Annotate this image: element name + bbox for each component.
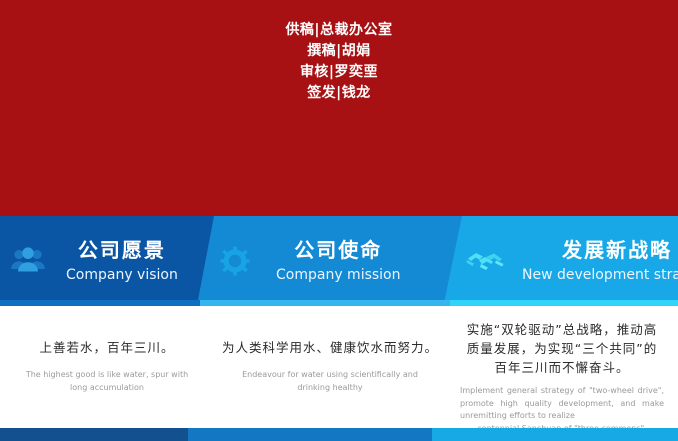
banner-panel-company-vision[interactable]: 公司愿景 Company vision xyxy=(0,216,214,306)
panel-title-en-strategy: New development strategy xyxy=(522,265,678,285)
banner-underline-right xyxy=(450,300,678,306)
credits-header: 供稿|总裁办公室 撰稿|胡娟 审核|罗奕垔 签发|钱龙 xyxy=(0,0,678,216)
panel-title-cn-strategy: 发展新战略 xyxy=(562,237,672,263)
footer-segment-left xyxy=(0,428,188,441)
panel-title-cn-mission: 公司使命 xyxy=(294,237,382,263)
footer-segment-mid xyxy=(188,428,432,441)
credit-line-reviewer: 审核|罗奕垔 xyxy=(300,62,378,83)
banner-underline xyxy=(0,300,678,306)
slide-page: 供稿|总裁办公室 撰稿|胡娟 审核|罗奕垔 签发|钱龙 xyxy=(0,0,678,441)
content-cn-strategy-line1: 实施“双轮驱动”总战略，推动高 xyxy=(467,320,657,339)
content-column-mission: 为人类科学用水、健康饮水而努力。 Endeavour for water usi… xyxy=(214,306,446,420)
content-cn-vision: 上善若水，百年三川。 xyxy=(39,338,174,358)
content-column-vision: 上善若水，百年三川。 The highest good is like wate… xyxy=(0,306,214,420)
content-en-strategy-body: Implement general strategy of "two-wheel… xyxy=(460,386,664,420)
banner-panel-3-text: 发展新战略 New development strategy xyxy=(522,237,678,285)
gear-icon xyxy=(220,246,250,276)
banner-panel-company-mission[interactable]: 公司使命 Company mission xyxy=(196,216,462,306)
handshake-icon xyxy=(466,247,504,275)
content-en-mission: Endeavour for water using scientifically… xyxy=(214,368,446,394)
credit-line-writer: 撰稿|胡娟 xyxy=(307,41,371,62)
panel-title-cn-vision: 公司愿景 xyxy=(78,237,166,263)
footer-strip xyxy=(0,428,678,441)
footer-segment-right xyxy=(432,428,678,441)
panel-title-en-mission: Company mission xyxy=(276,265,401,285)
content-section: 上善若水，百年三川。 The highest good is like wate… xyxy=(0,306,678,420)
banner-panel-new-strategy[interactable]: 发展新战略 New development strategy xyxy=(440,216,678,306)
content-en-vision: The highest good is like water, spur wit… xyxy=(0,368,214,394)
banner-section: 公司愿景 Company vision xyxy=(0,216,678,306)
content-column-strategy: 实施“双轮驱动”总战略，推动高 质量发展，为实现“三个共同”的 百年三川而不懈奋… xyxy=(446,306,678,420)
banner-underline-mid xyxy=(200,300,450,306)
content-cn-strategy-line2: 质量发展，为实现“三个共同”的 xyxy=(467,339,657,358)
banner-panel-1-text: 公司愿景 Company vision xyxy=(66,237,178,285)
credit-line-approver: 签发|钱龙 xyxy=(307,83,371,104)
banner-underline-left xyxy=(0,300,200,306)
banner-panel-2-text: 公司使命 Company mission xyxy=(276,237,401,285)
people-group-icon xyxy=(10,246,46,276)
panel-title-en-vision: Company vision xyxy=(66,265,178,285)
content-cn-strategy-line3: 百年三川而不懈奋斗。 xyxy=(494,358,629,377)
content-cn-mission: 为人类科学用水、健康饮水而努力。 xyxy=(222,338,438,358)
credit-line-contributor: 供稿|总裁办公室 xyxy=(285,20,392,41)
